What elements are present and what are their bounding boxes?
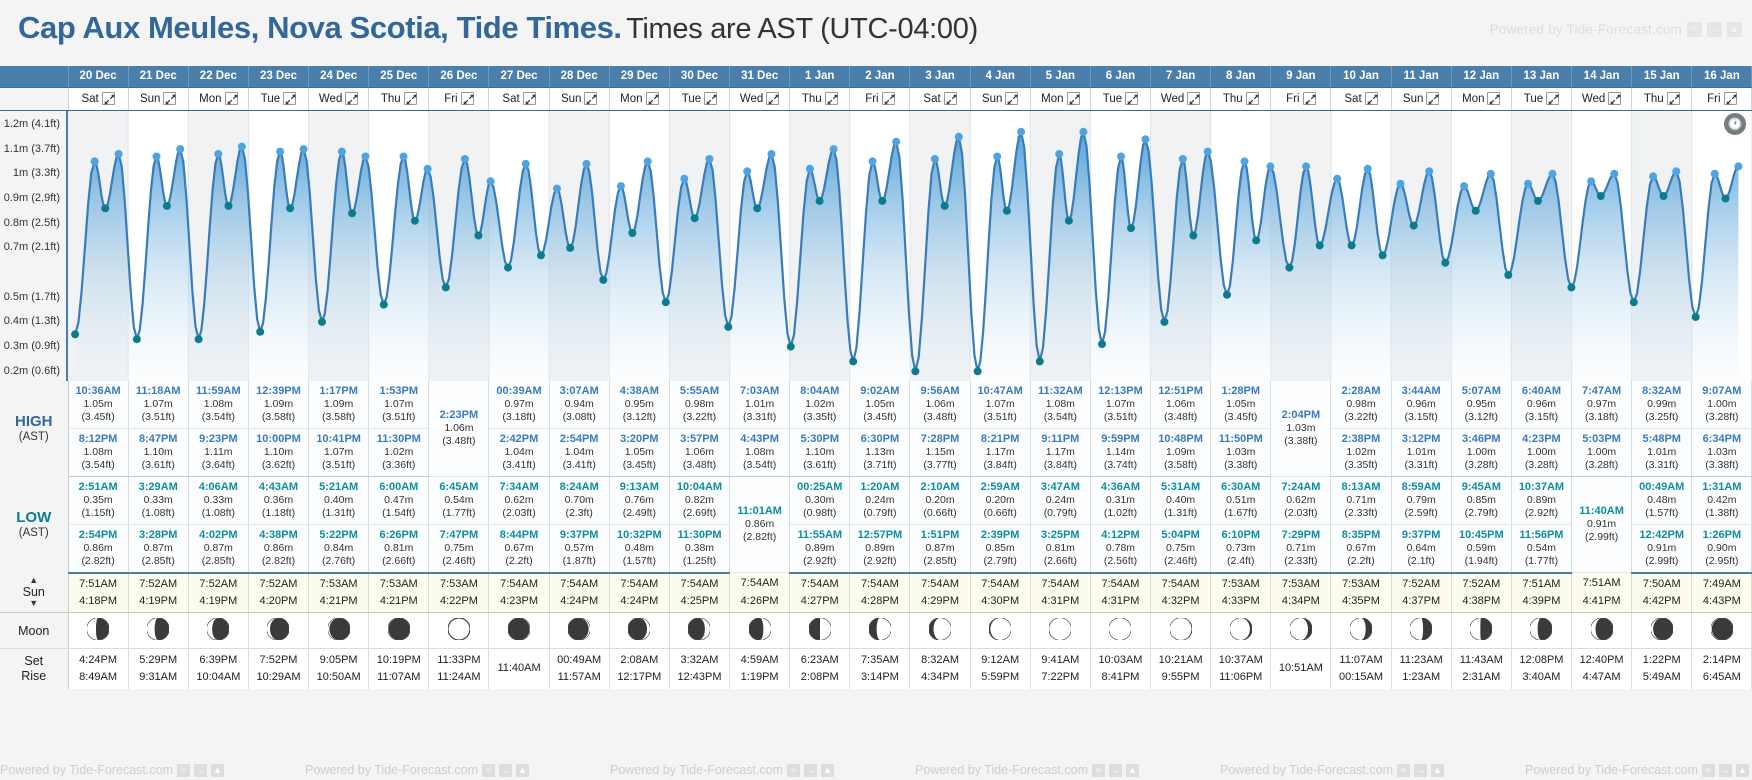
date-header-8: 28 Dec xyxy=(549,66,609,87)
low-tide-row-2: 2:54PM0.86m(2.82ft)3:28PM0.87m(2.85ft)4:… xyxy=(0,525,1752,573)
high-meters-24-0: 0.96m xyxy=(1512,398,1571,411)
moon-cell-16 xyxy=(1030,613,1090,649)
dayofweek-cell-24[interactable]: Tue xyxy=(1511,87,1571,110)
date-header-24: 13 Jan xyxy=(1511,66,1571,87)
high-time-18-1: 10:48PM xyxy=(1151,433,1210,446)
moonrise-7: 11:40AM xyxy=(489,660,548,677)
low-tide-cell-16-0: 3:47AM0.24m(0.79ft) xyxy=(1030,477,1090,525)
moon-setrise-cell-10: 3:32AM12:43PM xyxy=(669,649,729,689)
y-axis-tick-3: 0.9m (2.9ft) xyxy=(4,192,60,204)
sun-cell-1: 7:52AM4:19PM xyxy=(128,573,188,613)
dayofweek-cell-25[interactable]: Wed xyxy=(1572,87,1632,110)
moonrise-14: 4:34PM xyxy=(910,669,969,686)
low-meters-26-0: 0.48m xyxy=(1632,494,1691,507)
low-meters-24-1: 0.54m xyxy=(1512,542,1571,555)
low-tide-cell-25: 11:40AM0.91m(2.99ft) xyxy=(1572,477,1632,573)
low-feet-27-1: (2.95ft) xyxy=(1692,555,1751,568)
page-header: Cap Aux Meules, Nova Scotia, Tide Times.… xyxy=(0,0,1752,66)
sunset-8: 4:24PM xyxy=(550,593,609,610)
dayofweek-cell-4[interactable]: Wed xyxy=(309,87,369,110)
sun-cell-3: 7:52AM4:20PM xyxy=(248,573,308,613)
high-feet-11-1: (3.54ft) xyxy=(730,459,789,472)
date-header-row: 20 Dec21 Dec22 Dec23 Dec24 Dec25 Dec26 D… xyxy=(0,66,1752,87)
high-meters-15-1: 1.17m xyxy=(971,446,1030,459)
high-tide-cell-13-0: 9:02AM1.05m(3.45ft) xyxy=(850,381,910,429)
low-meters-22-0: 0.79m xyxy=(1392,494,1451,507)
expand-icon[interactable] xyxy=(1667,92,1680,105)
expand-icon[interactable] xyxy=(584,92,597,105)
dayofweek-cell-12[interactable]: Thu xyxy=(790,87,850,110)
high-feet-26-1: (3.31ft) xyxy=(1632,459,1691,472)
low-meters-23-1: 0.59m xyxy=(1452,542,1511,555)
expand-icon[interactable] xyxy=(1546,92,1559,105)
expand-icon[interactable] xyxy=(704,92,717,105)
high-tide-cell-16-0: 11:32AM1.08m(3.54ft) xyxy=(1030,381,1090,429)
sun-cell-2: 7:52AM4:19PM xyxy=(188,573,248,613)
sunrise-16: 7:54AM xyxy=(1031,576,1090,593)
moonset-27: 2:14PM xyxy=(1692,652,1751,669)
moon-phase-icon xyxy=(869,618,891,640)
y-axis-tick-5: 0.7m (2.1ft) xyxy=(4,241,60,253)
high-tide-cell-25-0: 7:47AM0.97m(3.18ft) xyxy=(1572,381,1632,429)
low-tide-cell-18-1: 5:04PM0.75m(2.46ft) xyxy=(1151,525,1211,573)
moonrise-27: 6:45AM xyxy=(1692,669,1751,686)
dayofweek-cell-18[interactable]: Wed xyxy=(1151,87,1211,110)
high-time-23-0: 5:07AM xyxy=(1452,385,1511,398)
expand-icon[interactable] xyxy=(1487,92,1500,105)
expand-icon[interactable] xyxy=(404,92,417,105)
low-meters-1-0: 0.33m xyxy=(129,494,188,507)
sunrise-24: 7:51AM xyxy=(1512,576,1571,593)
dayofweek-cell-11[interactable]: Wed xyxy=(730,87,790,110)
low-feet-3-0: (1.18ft) xyxy=(249,507,308,520)
low-feet-2-0: (1.08ft) xyxy=(189,507,248,520)
low-tide-cell-13-0: 1:20AM0.24m(0.79ft) xyxy=(850,477,910,525)
moonset-10: 3:32AM xyxy=(670,652,729,669)
low-tide-cell-7-0: 7:34AM0.62m(2.03ft) xyxy=(489,477,549,525)
date-header-corner xyxy=(0,66,68,87)
dayofweek-cell-27[interactable]: Fri xyxy=(1692,87,1752,110)
dayofweek-cell-15[interactable]: Sun xyxy=(970,87,1030,110)
low-meters-1-1: 0.87m xyxy=(129,542,188,555)
high-feet-15-1: (3.84ft) xyxy=(971,459,1030,472)
high-time-1-0: 11:18AM xyxy=(129,385,188,398)
low-tide-cell-10-1: 11:30PM0.38m(1.25ft) xyxy=(669,525,729,573)
low-time-11: 11:01AM xyxy=(730,505,789,518)
sun-cell-10: 7:54AM4:25PM xyxy=(669,573,729,613)
sunset-22: 4:37PM xyxy=(1392,593,1451,610)
dayofweek-label-14: Sat xyxy=(923,93,940,105)
moon-setrise-cell-24: 12:08PM3:40AM xyxy=(1511,649,1571,689)
dayofweek-label-2: Mon xyxy=(199,93,221,105)
sunrise-6: 7:53AM xyxy=(429,576,488,593)
low-meters-25: 0.91m xyxy=(1572,518,1631,531)
moon-setrise-cell-23: 11:43AM2:31AM xyxy=(1451,649,1511,689)
footer-watermark-0: Powered by Tide-Forecast.com≈→▲ xyxy=(0,763,224,777)
low-meters-21-1: 0.67m xyxy=(1331,542,1390,555)
high-tide-cell-9-1: 3:20PM1.05m(3.45ft) xyxy=(609,429,669,477)
expand-icon[interactable] xyxy=(225,92,238,105)
moon-phase-icon xyxy=(929,618,951,640)
expand-icon[interactable] xyxy=(523,92,536,105)
y-axis-tick-6: 0.5m (1.7ft) xyxy=(4,291,60,303)
low-feet-21-1: (2.2ft) xyxy=(1331,555,1390,568)
expand-icon[interactable] xyxy=(283,92,296,105)
dayofweek-cell-5[interactable]: Thu xyxy=(369,87,429,110)
low-tide-cell-12-1: 11:55AM0.89m(2.92ft) xyxy=(790,525,850,573)
wave-icon: ≈ xyxy=(1687,22,1702,37)
sunrise-12: 7:54AM xyxy=(790,576,849,593)
high-tide-cell-1-1: 8:47PM1.10m(3.61ft) xyxy=(128,429,188,477)
low-tide-cell-13-1: 12:57PM0.89m(2.92ft) xyxy=(850,525,910,573)
moon-phase-icon xyxy=(1470,618,1492,640)
low-meters-10-1: 0.38m xyxy=(670,542,729,555)
low-meters-18-0: 0.40m xyxy=(1151,494,1210,507)
triangle-icon: ▲ xyxy=(1126,764,1139,777)
sun-cell-25: 7:51AM4:41PM xyxy=(1572,573,1632,613)
dayofweek-cell-0[interactable]: Sat xyxy=(68,87,128,110)
moon-phase-icon xyxy=(388,618,410,640)
dayofweek-cell-14[interactable]: Sat xyxy=(910,87,970,110)
sun-cell-27: 7:49AM4:43PM xyxy=(1692,573,1752,613)
dayofweek-label-21: Sat xyxy=(1344,93,1361,105)
dayofweek-cell-1[interactable]: Sun xyxy=(128,87,188,110)
low-time-5-0: 6:00AM xyxy=(369,481,428,494)
moonset-13: 7:35AM xyxy=(850,652,909,669)
low-meters-21-0: 0.71m xyxy=(1331,494,1390,507)
wave-icon: ≈ xyxy=(1092,764,1105,777)
tide-chart-cell: 1.2m (4.1ft)1.1m (3.7ft)1m (3.3ft)0.9m (… xyxy=(0,110,1752,381)
y-axis-tick-4: 0.8m (2.5ft) xyxy=(4,217,60,229)
dayofweek-label-17: Tue xyxy=(1103,93,1122,105)
sun-cell-14: 7:54AM4:29PM xyxy=(910,573,970,613)
low-time-10-1: 11:30PM xyxy=(670,529,729,542)
high-time-27-1: 6:34PM xyxy=(1692,433,1751,446)
low-feet-16-0: (0.79ft) xyxy=(1031,507,1090,520)
expand-icon[interactable] xyxy=(461,92,474,105)
dayofweek-cell-9[interactable]: Mon xyxy=(609,87,669,110)
sunset-23: 4:38PM xyxy=(1452,593,1511,610)
low-feet-24-1: (1.77ft) xyxy=(1512,555,1571,568)
moon-cell-14 xyxy=(910,613,970,649)
high-tide-cell-6: 2:23PM1.06m(3.48ft) xyxy=(429,381,489,477)
dayofweek-label-24: Tue xyxy=(1524,93,1543,105)
high-time-10-0: 5:55AM xyxy=(670,385,729,398)
high-feet-9-0: (3.12ft) xyxy=(610,411,669,424)
moonset-15: 9:12AM xyxy=(971,652,1030,669)
sunset-26: 4:42PM xyxy=(1632,593,1691,610)
dayofweek-cell-19[interactable]: Thu xyxy=(1211,87,1271,110)
set-rise-label: SetRise xyxy=(0,649,68,689)
dayofweek-cell-2[interactable]: Mon xyxy=(188,87,248,110)
high-meters-7-1: 1.04m xyxy=(489,446,548,459)
low-feet-25: (2.99ft) xyxy=(1572,531,1631,544)
high-tide-cell-18-0: 12:51PM1.06m(3.48ft) xyxy=(1151,381,1211,429)
dayofweek-cell-21[interactable]: Sat xyxy=(1331,87,1391,110)
dayofweek-cell-26[interactable]: Thu xyxy=(1632,87,1692,110)
triangle-icon: ▲ xyxy=(1431,764,1444,777)
moon-text: Moon xyxy=(18,624,49,638)
high-meters-16-1: 1.17m xyxy=(1031,446,1090,459)
low-meters-10-0: 0.82m xyxy=(670,494,729,507)
dayofweek-cell-3[interactable]: Tue xyxy=(248,87,308,110)
moon-phase-icon xyxy=(1170,618,1192,640)
expand-icon[interactable] xyxy=(646,92,659,105)
low-meters-26-1: 0.91m xyxy=(1632,542,1691,555)
low-feet-1-0: (1.08ft) xyxy=(129,507,188,520)
moon-setrise-cell-1: 5:29PM9:31AM xyxy=(128,649,188,689)
high-feet-23-1: (3.28ft) xyxy=(1452,459,1511,472)
moon-cell-13 xyxy=(850,613,910,649)
high-meters-4-0: 1.09m xyxy=(309,398,368,411)
high-time-14-0: 9:56AM xyxy=(910,385,969,398)
low-time-27-0: 1:31AM xyxy=(1692,481,1751,494)
expand-icon[interactable] xyxy=(1426,92,1439,105)
high-meters-5-1: 1.02m xyxy=(369,446,428,459)
low-meters-2-0: 0.33m xyxy=(189,494,248,507)
low-feet-23-0: (2.79ft) xyxy=(1452,507,1511,520)
tide-chart-row: 1.2m (4.1ft)1.1m (3.7ft)1m (3.3ft)0.9m (… xyxy=(0,110,1752,381)
sunset-5: 4:21PM xyxy=(369,593,428,610)
low-time-17-0: 4:36AM xyxy=(1091,481,1150,494)
low-meters-16-0: 0.24m xyxy=(1031,494,1090,507)
high-feet-16-1: (3.84ft) xyxy=(1031,459,1090,472)
expand-icon[interactable] xyxy=(1187,92,1200,105)
low-time-12-1: 11:55AM xyxy=(790,529,849,542)
dayofweek-cell-23[interactable]: Mon xyxy=(1451,87,1511,110)
low-tide-cell-12-0: 00:25AM0.30m(0.98ft) xyxy=(790,477,850,525)
sunrise-9: 7:54AM xyxy=(610,576,669,593)
dayofweek-label-4: Wed xyxy=(319,93,342,105)
low-tide-cell-23-0: 9:45AM0.85m(2.79ft) xyxy=(1451,477,1511,525)
expand-icon[interactable] xyxy=(766,92,779,105)
high-time-21-0: 2:28AM xyxy=(1331,385,1390,398)
tide-table-container: 20 Dec21 Dec22 Dec23 Dec24 Dec25 Dec26 D… xyxy=(0,66,1752,689)
low-tide-cell-6-1: 7:47PM0.75m(2.46ft) xyxy=(429,525,489,573)
low-feet-14-1: (2.85ft) xyxy=(910,555,969,568)
y-axis-tick-9: 0.2m (0.6ft) xyxy=(4,365,60,377)
dayofweek-label-23: Mon xyxy=(1462,93,1484,105)
date-header-19: 8 Jan xyxy=(1211,66,1271,87)
moon-label: Moon xyxy=(0,613,68,649)
moon-cell-22 xyxy=(1391,613,1451,649)
moon-setrise-cell-6: 11:33PM11:24AM xyxy=(429,649,489,689)
date-header-12: 1 Jan xyxy=(790,66,850,87)
high-meters-27-0: 1.00m xyxy=(1692,398,1751,411)
high-feet-5-1: (3.36ft) xyxy=(369,459,428,472)
arrow-icon: → xyxy=(499,764,512,777)
moon-setrise-cell-16: 9:41AM7:22PM xyxy=(1030,649,1090,689)
low-feet-7-1: (2.2ft) xyxy=(489,555,548,568)
low-tide-cell-20-0: 7:24AM0.62m(2.03ft) xyxy=(1271,477,1331,525)
low-tide-cell-21-0: 8:13AM0.71m(2.33ft) xyxy=(1331,477,1391,525)
high-tide-cell-1-0: 11:18AM1.07m(3.51ft) xyxy=(128,381,188,429)
expand-icon[interactable] xyxy=(1365,92,1378,105)
high-time-22-1: 3:12PM xyxy=(1392,433,1451,446)
expand-icon[interactable] xyxy=(1005,92,1018,105)
low-meters-16-1: 0.81m xyxy=(1031,542,1090,555)
low-meters-11: 0.86m xyxy=(730,518,789,531)
sunset-15: 4:30PM xyxy=(971,593,1030,610)
high-feet-12-0: (3.35ft) xyxy=(790,411,849,424)
expand-icon[interactable] xyxy=(1724,92,1737,105)
high-meters-9-1: 1.05m xyxy=(610,446,669,459)
y-axis-tick-0: 1.2m (4.1ft) xyxy=(4,118,60,130)
footer-watermark-1: Powered by Tide-Forecast.com≈→▲ xyxy=(305,763,529,777)
low-time-22-1: 9:37PM xyxy=(1392,529,1451,542)
high-meters-23-0: 0.95m xyxy=(1452,398,1511,411)
low-meters-14-1: 0.87m xyxy=(910,542,969,555)
low-feet-18-1: (2.46ft) xyxy=(1151,555,1210,568)
date-header-21: 10 Jan xyxy=(1331,66,1391,87)
low-meters-7-0: 0.62m xyxy=(489,494,548,507)
expand-icon[interactable] xyxy=(1608,92,1621,105)
low-tide-cell-1-0: 3:29AM0.33m(1.08ft) xyxy=(128,477,188,525)
high-tide-cell-5-0: 1:53PM1.07m(3.51ft) xyxy=(369,381,429,429)
dayofweek-cell-22[interactable]: Sun xyxy=(1391,87,1451,110)
tide-curve-plot xyxy=(68,111,1752,381)
moon-setrise-cell-8: 00:49AM11:57AM xyxy=(549,649,609,689)
high-tide-label: HIGH(AST) xyxy=(0,381,68,477)
low-tide-cell-27-0: 1:31AM0.42m(1.38ft) xyxy=(1692,477,1752,525)
low-feet-5-0: (1.54ft) xyxy=(369,507,428,520)
low-time-3-1: 4:38PM xyxy=(249,529,308,542)
high-tide-cell-12-1: 5:30PM1.10m(3.61ft) xyxy=(790,429,850,477)
high-feet-25-1: (3.28ft) xyxy=(1572,459,1631,472)
moonrise-11: 1:19PM xyxy=(730,669,789,686)
high-time-7-0: 00:39AM xyxy=(489,385,548,398)
moonset-24: 12:08PM xyxy=(1512,652,1571,669)
sun-cell-20: 7:53AM4:34PM xyxy=(1271,573,1331,613)
high-time-16-1: 9:11PM xyxy=(1031,433,1090,446)
high-time-27-0: 9:07AM xyxy=(1692,385,1751,398)
dayofweek-cell-20[interactable]: Fri xyxy=(1271,87,1331,110)
expand-icon[interactable] xyxy=(102,92,115,105)
expand-icon[interactable] xyxy=(1067,92,1080,105)
high-tide-cell-22-0: 3:44AM0.96m(3.15ft) xyxy=(1391,381,1451,429)
moon-cell-26 xyxy=(1632,613,1692,649)
moonset-12: 6:23AM xyxy=(790,652,849,669)
moonset-25: 12:40PM xyxy=(1572,652,1631,669)
high-tide-cell-0-1: 8:12PM1.08m(3.54ft) xyxy=(68,429,128,477)
y-axis-tick-2: 1m (3.3ft) xyxy=(13,167,60,179)
dayofweek-label-19: Thu xyxy=(1223,93,1243,105)
triangle-icon: ▲ xyxy=(516,764,529,777)
dayofweek-cell-17[interactable]: Tue xyxy=(1090,87,1150,110)
expand-icon[interactable] xyxy=(345,92,358,105)
moon-cell-8 xyxy=(549,613,609,649)
high-feet-21-0: (3.22ft) xyxy=(1331,411,1390,424)
low-time-14-0: 2:10AM xyxy=(910,481,969,494)
low-feet-8-1: (1.87ft) xyxy=(550,555,609,568)
high-tide-cell-23-1: 3:46PM1.00m(3.28ft) xyxy=(1451,429,1511,477)
high-tide-cell-12-0: 8:04AM1.02m(3.35ft) xyxy=(790,381,850,429)
moon-phase-icon xyxy=(1049,618,1071,640)
high-meters-3-0: 1.09m xyxy=(249,398,308,411)
dayofweek-cell-7[interactable]: Sat xyxy=(489,87,549,110)
dayofweek-cell-13[interactable]: Fri xyxy=(850,87,910,110)
low-time-21-0: 8:13AM xyxy=(1331,481,1390,494)
moonrise-6: 11:24AM xyxy=(429,669,488,686)
moon-setrise-cell-3: 7:52PM10:29AM xyxy=(248,649,308,689)
footer-watermark-3: Powered by Tide-Forecast.com≈→▲ xyxy=(915,763,1139,777)
low-meters-7-1: 0.67m xyxy=(489,542,548,555)
arrow-icon: → xyxy=(804,764,817,777)
expand-icon[interactable] xyxy=(944,92,957,105)
moon-cell-12 xyxy=(790,613,850,649)
high-meters-10-1: 1.06m xyxy=(670,446,729,459)
high-time-11-0: 7:03AM xyxy=(730,385,789,398)
moonset-14: 8:32AM xyxy=(910,652,969,669)
moonset-16: 9:41AM xyxy=(1031,652,1090,669)
moon-setrise-cell-26: 1:22PM5:49AM xyxy=(1632,649,1692,689)
moonset-11: 4:59AM xyxy=(730,652,789,669)
dayofweek-cell-10[interactable]: Tue xyxy=(669,87,729,110)
low-feet-19-1: (2.4ft) xyxy=(1211,555,1270,568)
date-header-0: 20 Dec xyxy=(68,66,128,87)
high-time-25-1: 5:03PM xyxy=(1572,433,1631,446)
high-feet-10-0: (3.22ft) xyxy=(670,411,729,424)
high-time-22-0: 3:44AM xyxy=(1392,385,1451,398)
expand-icon[interactable] xyxy=(1303,92,1316,105)
expand-icon[interactable] xyxy=(163,92,176,105)
high-tide-cell-11-0: 7:03AM1.01m(3.31ft) xyxy=(730,381,790,429)
high-meters-25-0: 0.97m xyxy=(1572,398,1631,411)
high-feet-1-0: (3.51ft) xyxy=(129,411,188,424)
high-time-11-1: 4:43PM xyxy=(730,433,789,446)
high-meters-19-1: 1.03m xyxy=(1211,446,1270,459)
expand-icon[interactable] xyxy=(1125,92,1138,105)
low-meters-19-0: 0.51m xyxy=(1211,494,1270,507)
moon-cell-9 xyxy=(609,613,669,649)
dayofweek-cell-8[interactable]: Sun xyxy=(549,87,609,110)
low-tide-cell-18-0: 5:31AM0.40m(1.31ft) xyxy=(1151,477,1211,525)
low-time-15-1: 2:39PM xyxy=(971,529,1030,542)
high-meters-15-0: 1.07m xyxy=(971,398,1030,411)
powered-by-watermark: Powered by Tide-Forecast.com ≈ → ▲ xyxy=(1490,22,1742,37)
high-meters-26-1: 1.01m xyxy=(1632,446,1691,459)
high-tide-cell-16-1: 9:11PM1.17m(3.84ft) xyxy=(1030,429,1090,477)
expand-icon[interactable] xyxy=(882,92,895,105)
moon-phase-icon xyxy=(207,618,229,640)
dayofweek-cell-16[interactable]: Mon xyxy=(1030,87,1090,110)
dayofweek-label-1: Sun xyxy=(140,93,160,105)
low-time-18-1: 5:04PM xyxy=(1151,529,1210,542)
triangle-icon: ▲ xyxy=(1736,764,1749,777)
dayofweek-cell-6[interactable]: Fri xyxy=(429,87,489,110)
moonset-3: 7:52PM xyxy=(249,652,308,669)
low-feet-19-0: (1.67ft) xyxy=(1211,507,1270,520)
footer-powered-text-2: Powered by Tide-Forecast.com xyxy=(610,763,783,777)
low-time-3-0: 4:43AM xyxy=(249,481,308,494)
high-tide-cell-11-1: 4:43PM1.08m(3.54ft) xyxy=(730,429,790,477)
footer-powered-text-4: Powered by Tide-Forecast.com xyxy=(1220,763,1393,777)
low-tide-cell-26-0: 00:49AM0.48m(1.57ft) xyxy=(1632,477,1692,525)
sun-cell-24: 7:51AM4:39PM xyxy=(1511,573,1571,613)
low-meters-22-1: 0.64m xyxy=(1392,542,1451,555)
date-header-23: 12 Jan xyxy=(1451,66,1511,87)
high-feet-5-0: (3.51ft) xyxy=(369,411,428,424)
sun-text: Sun xyxy=(23,585,45,599)
moonset-6: 11:33PM xyxy=(429,652,488,669)
low-tide-cell-2-1: 4:02PM0.87m(2.85ft) xyxy=(188,525,248,573)
expand-icon[interactable] xyxy=(825,92,838,105)
low-time-13-0: 1:20AM xyxy=(850,481,909,494)
expand-icon[interactable] xyxy=(1246,92,1259,105)
low-feet-22-0: (2.59ft) xyxy=(1392,507,1451,520)
moonset-19: 10:37AM xyxy=(1211,652,1270,669)
high-meters-17-0: 1.07m xyxy=(1091,398,1150,411)
